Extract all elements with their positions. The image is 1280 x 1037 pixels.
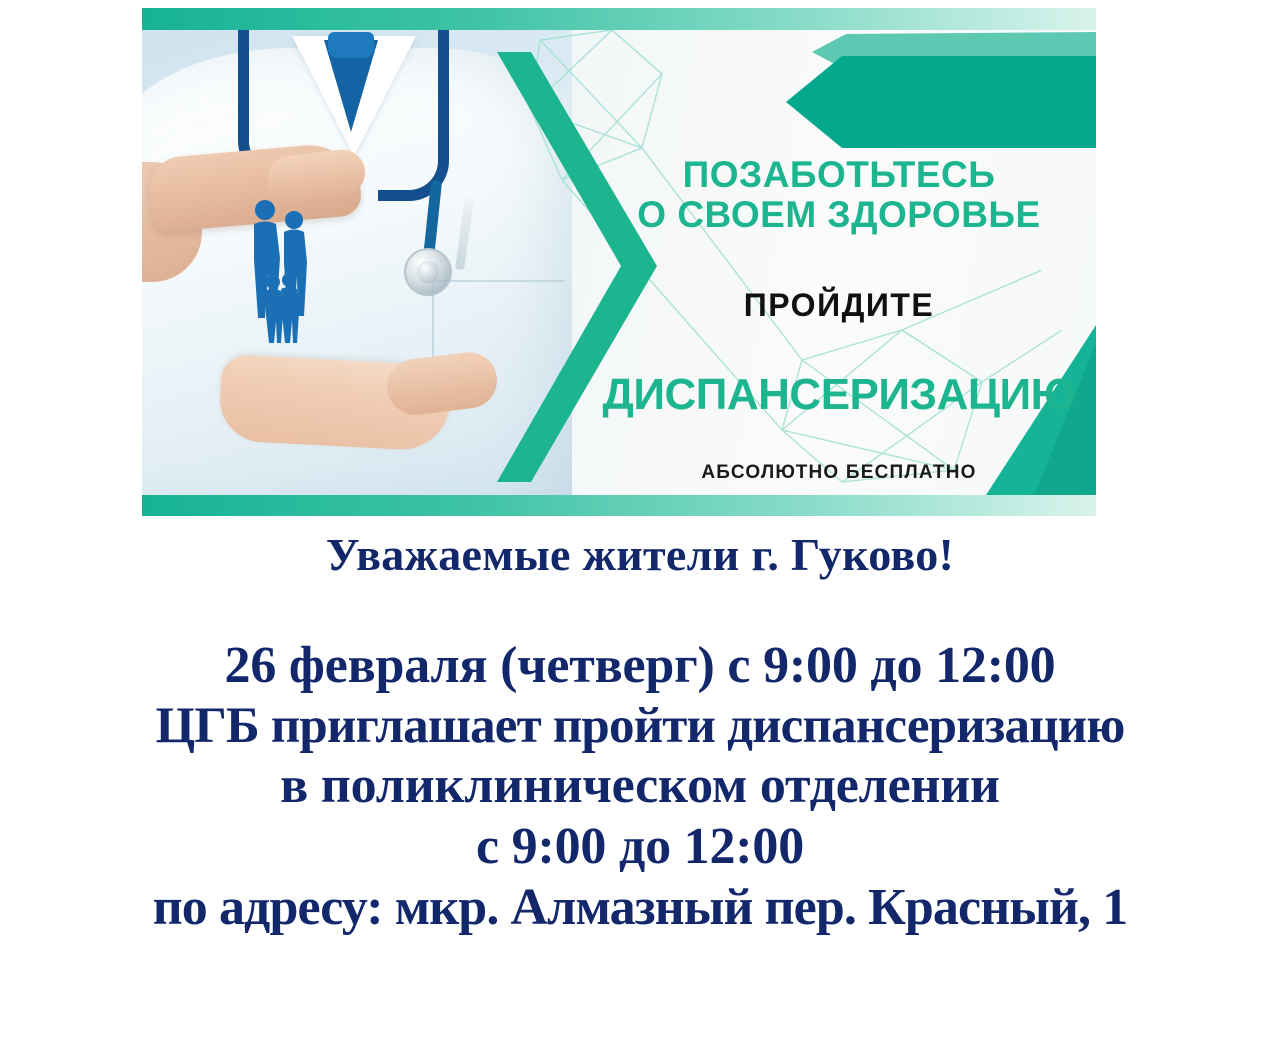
doctor-hand-lower xyxy=(218,354,452,452)
stethoscope-tube-right xyxy=(378,30,449,201)
announcement-line-date: 26 февраля (четверг) с 9:00 до 12:00 xyxy=(0,636,1280,697)
family-silhouette-icon xyxy=(246,198,320,346)
banner-footnote: АБСОЛЮТНО БЕСПЛАТНО xyxy=(582,462,1096,484)
banner-bottom-accent-strip xyxy=(142,495,1096,516)
announcement-line-department: в поликлиническом отделении xyxy=(0,756,1280,817)
banner-headline-line2: О СВОЕМ ЗДОРОВЬЕ xyxy=(582,195,1096,235)
health-checkup-banner: ПОЗАБОТЬТЕСЬ О СВОЕМ ЗДОРОВЬЕ ПРОЙДИТЕ Д… xyxy=(142,8,1096,516)
banner-top-accent-strip xyxy=(142,8,1096,30)
announcement-line-invite: ЦГБ приглашает пройти диспансеризацию xyxy=(0,697,1280,757)
announcement-line-address: по адресу: мкр. Алмазный пер. Красный, 1 xyxy=(0,878,1280,939)
banner-body: ПОЗАБОТЬТЕСЬ О СВОЕМ ЗДОРОВЬЕ ПРОЙДИТЕ Д… xyxy=(142,30,1096,495)
announcement-headline: Уважаемые жители г. Гуково! xyxy=(0,524,1280,580)
banner-service-name: ДИСПАНСЕРИЗАЦИЮ xyxy=(582,370,1096,420)
announcement-block: Уважаемые жители г. Гуково! 26 февраля (… xyxy=(0,524,1280,939)
banner-action-word: ПРОЙДИТЕ xyxy=(582,287,1096,324)
announcement-body: 26 февраля (четверг) с 9:00 до 12:00 ЦГБ… xyxy=(0,636,1280,939)
banner-text-block: ПОЗАБОТЬТЕСЬ О СВОЕМ ЗДОРОВЬЕ ПРОЙДИТЕ Д… xyxy=(582,30,1096,495)
necktie-knot xyxy=(328,32,374,58)
announcement-line-hours: с 9:00 до 12:00 xyxy=(0,817,1280,878)
banner-headline-line1: ПОЗАБОТЬТЕСЬ xyxy=(582,155,1096,195)
